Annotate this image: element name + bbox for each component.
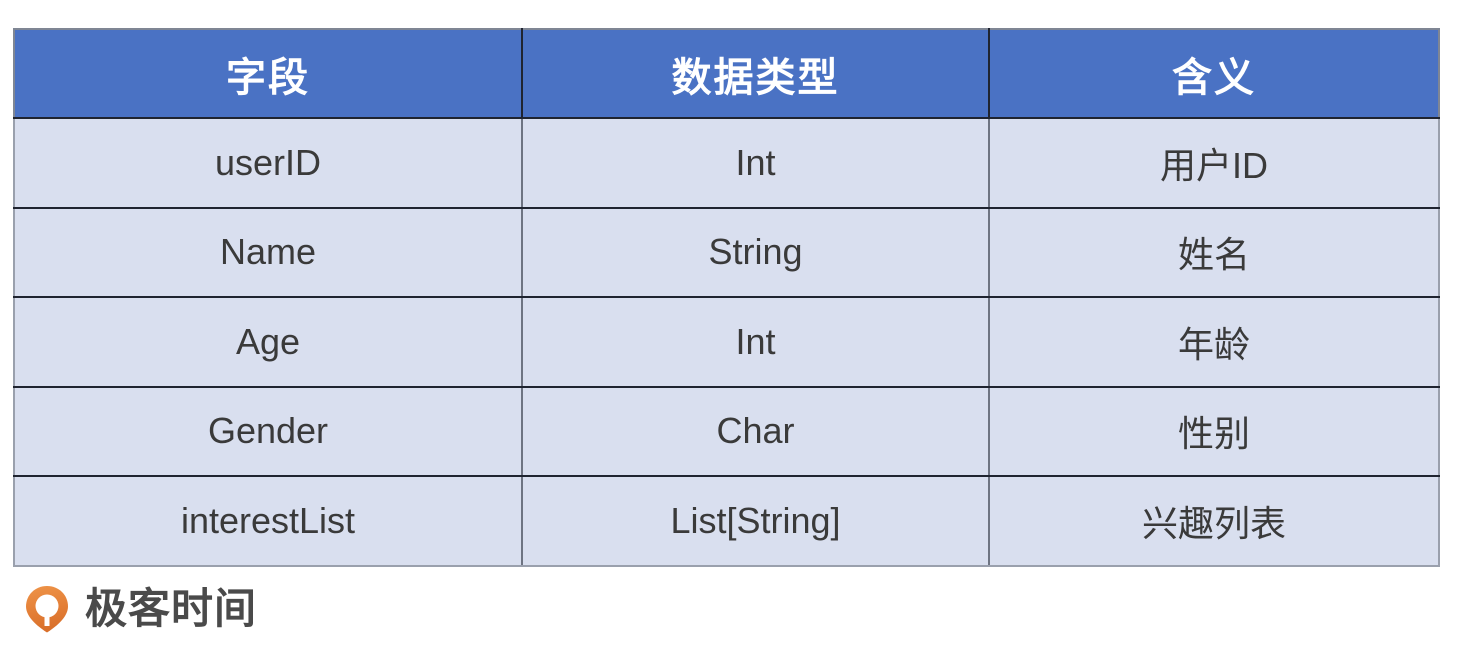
cell-field: Age — [14, 297, 522, 387]
table-header-row: 字段 数据类型 含义 — [14, 29, 1439, 118]
cell-data-type: Int — [522, 118, 989, 208]
cell-field: Name — [14, 208, 522, 298]
cell-field: interestList — [14, 476, 522, 566]
column-header-meaning: 含义 — [989, 29, 1439, 118]
cell-data-type: List[String] — [522, 476, 989, 566]
table-row: Gender Char 性别 — [14, 387, 1439, 477]
table-row: Name String 姓名 — [14, 208, 1439, 298]
geektime-pin-icon — [22, 584, 72, 634]
field-schema-table: 字段 数据类型 含义 userID Int 用户ID Name String 姓… — [13, 28, 1440, 567]
column-header-data-type: 数据类型 — [522, 29, 989, 118]
cell-meaning: 兴趣列表 — [989, 476, 1439, 566]
table-row: interestList List[String] 兴趣列表 — [14, 476, 1439, 566]
brand-logo: 极客时间 — [22, 584, 257, 634]
cell-meaning: 性别 — [989, 387, 1439, 477]
cell-meaning: 年龄 — [989, 297, 1439, 387]
table-body: userID Int 用户ID Name String 姓名 Age Int 年… — [14, 118, 1439, 566]
cell-data-type: Int — [522, 297, 989, 387]
brand-name: 极客时间 — [85, 588, 257, 630]
cell-field: Gender — [14, 387, 522, 477]
cell-meaning: 用户ID — [989, 118, 1439, 208]
table-row: userID Int 用户ID — [14, 118, 1439, 208]
table-header: 字段 数据类型 含义 — [14, 29, 1439, 118]
cell-data-type: Char — [522, 387, 989, 477]
table-row: Age Int 年龄 — [14, 297, 1439, 387]
cell-field: userID — [14, 118, 522, 208]
cell-data-type: String — [522, 208, 989, 298]
column-header-field: 字段 — [14, 29, 522, 118]
cell-meaning: 姓名 — [989, 208, 1439, 298]
